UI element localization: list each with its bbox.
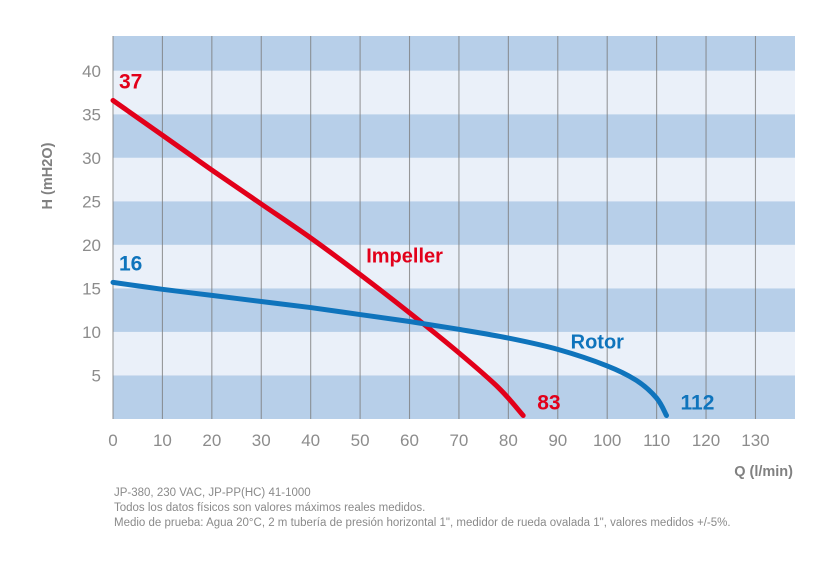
x-tick-label: 50 xyxy=(351,431,370,450)
series-label-rotor: Rotor xyxy=(571,331,625,353)
x-tick-label: 30 xyxy=(252,431,271,450)
plot-band xyxy=(113,332,795,376)
x-tick-label: 130 xyxy=(741,431,769,450)
series-end-value-impeller: 83 xyxy=(537,392,560,415)
x-tick-label: 70 xyxy=(449,431,468,450)
plot-bands xyxy=(113,36,795,419)
footnote-line-1: JP-380, 230 VAC, JP-PP(HC) 41-1000 xyxy=(114,487,311,499)
pump-performance-chart: 403530252015105 010203040506070809010011… xyxy=(0,0,831,567)
plot-band xyxy=(113,114,795,158)
x-tick-label: 120 xyxy=(692,431,720,450)
series-start-value-rotor: 16 xyxy=(119,252,142,275)
y-tick-label: 15 xyxy=(82,279,101,298)
x-tick-label: 90 xyxy=(548,431,567,450)
y-tick-label: 35 xyxy=(82,105,101,124)
y-tick-label: 25 xyxy=(82,192,101,211)
y-tick-label: 40 xyxy=(82,62,101,81)
plot-band xyxy=(113,245,795,289)
y-tick-label: 20 xyxy=(82,236,101,255)
y-axis-title: H (mH2O) xyxy=(40,142,56,209)
chart-page: 403530252015105 010203040506070809010011… xyxy=(0,0,831,567)
series-start-value-impeller: 37 xyxy=(119,70,142,93)
plot-band xyxy=(113,71,795,115)
footnote-line-3: Medio de prueba: Agua 20°C, 2 m tubería … xyxy=(114,517,731,529)
y-tick-labels: 403530252015105 xyxy=(82,62,101,386)
x-tick-labels: 0102030405060708090100110120130 xyxy=(108,431,769,450)
plot-band xyxy=(113,36,795,71)
x-tick-label: 80 xyxy=(499,431,518,450)
plot-band xyxy=(113,158,795,202)
footnote-line-2: Todos los datos físicos son valores máxi… xyxy=(114,502,425,514)
x-axis-title: Q (l/min) xyxy=(734,464,793,480)
x-tick-label: 60 xyxy=(400,431,419,450)
y-tick-label: 30 xyxy=(82,149,101,168)
series-end-value-rotor: 112 xyxy=(681,392,715,415)
plot-band xyxy=(113,201,795,245)
y-tick-label: 10 xyxy=(82,323,101,342)
x-tick-label: 100 xyxy=(593,431,621,450)
x-tick-label: 0 xyxy=(108,431,117,450)
x-tick-label: 40 xyxy=(301,431,320,450)
series-label-impeller: Impeller xyxy=(366,245,443,267)
x-tick-label: 20 xyxy=(202,431,221,450)
x-tick-label: 110 xyxy=(643,431,670,450)
x-tick-label: 10 xyxy=(153,431,172,450)
y-tick-label: 5 xyxy=(92,366,101,385)
